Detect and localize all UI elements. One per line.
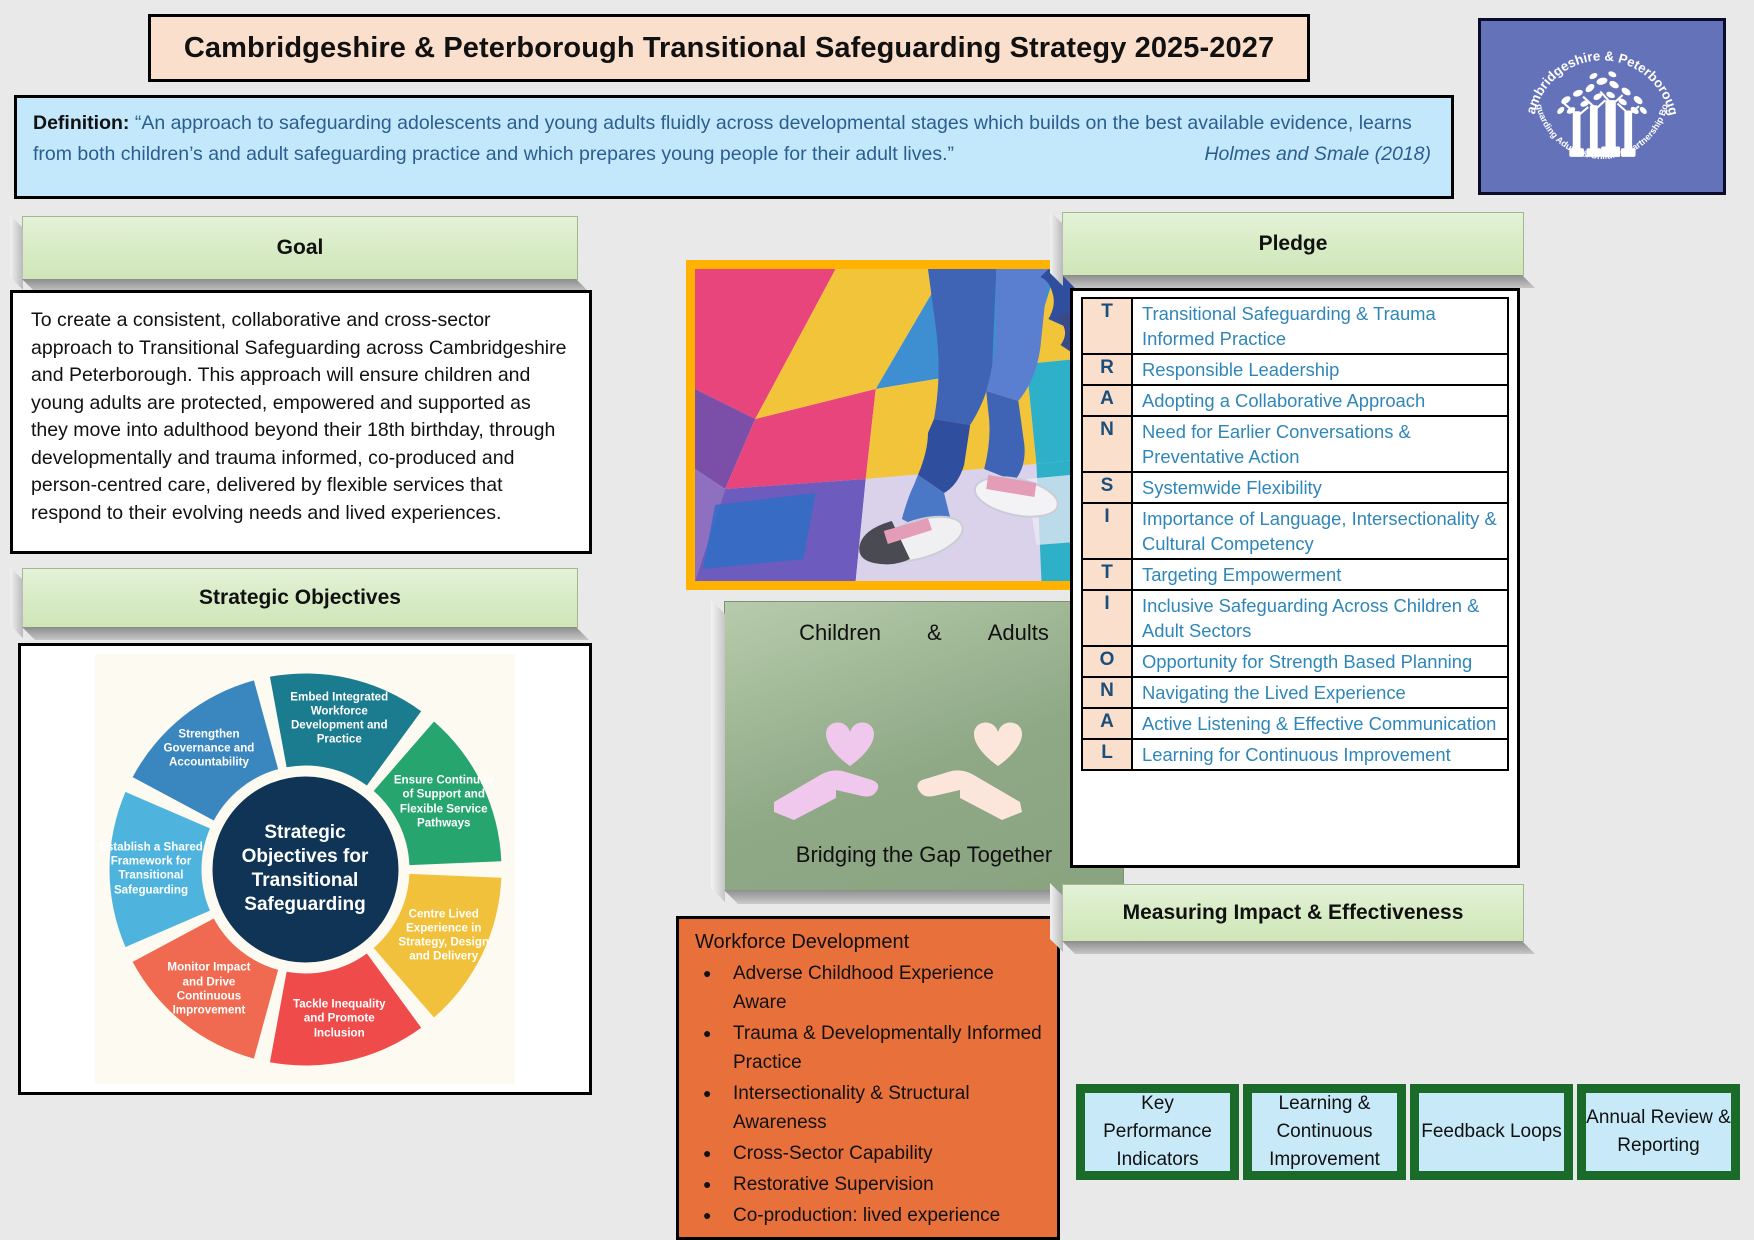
- pledge-row: NNeed for Earlier Conversations & Preven…: [1082, 416, 1508, 472]
- measuring-impact-header: Measuring Impact & Effectiveness: [1062, 884, 1524, 942]
- pledge-letter: O: [1082, 646, 1132, 677]
- pledge-text: Importance of Language, Intersectionalit…: [1132, 503, 1508, 559]
- bridging-children-label: Children: [799, 620, 881, 646]
- pledge-row: TTargeting Empowerment: [1082, 559, 1508, 590]
- bridging-adults-label: Adults: [988, 620, 1049, 646]
- pledge-text: Systemwide Flexibility: [1132, 472, 1508, 503]
- strategic-objectives-header: Strategic Objectives: [22, 568, 578, 628]
- bridging-panel: Children & Adults Bridging the Gap Toget…: [724, 601, 1124, 891]
- measure-box-annual-review[interactable]: Annual Review & Reporting: [1577, 1084, 1740, 1180]
- pledge-letter: R: [1082, 354, 1132, 385]
- pledge-header-label: Pledge: [1259, 232, 1328, 256]
- pledge-text: Responsible Leadership: [1132, 354, 1508, 385]
- workforce-title: Workforce Development: [695, 931, 1043, 954]
- pledge-row: TTransitional Safeguarding & Trauma Info…: [1082, 298, 1508, 354]
- definition-label: Definition:: [33, 112, 129, 134]
- pledge-panel: TTransitional Safeguarding & Trauma Info…: [1070, 288, 1520, 868]
- pledge-letter: N: [1082, 416, 1132, 472]
- pledge-letter: T: [1082, 559, 1132, 590]
- pledge-letter: L: [1082, 739, 1132, 770]
- strategic-objectives-header-label: Strategic Objectives: [199, 586, 401, 610]
- bridging-top-labels: Children & Adults: [725, 620, 1123, 646]
- definition-text: Definition: “An approach to safeguarding…: [33, 108, 1437, 170]
- strategic-objectives-panel: Strategic Objectives for Transitional Sa…: [18, 643, 592, 1095]
- strategic-objectives-wheel: Strategic Objectives for Transitional Sa…: [103, 667, 508, 1072]
- definition-panel: Definition: “An approach to safeguarding…: [14, 95, 1454, 199]
- pledge-row: OOpportunity for Strength Based Planning: [1082, 646, 1508, 677]
- goal-text: To create a consistent, collaborative an…: [31, 307, 571, 527]
- pledge-text: Inclusive Safeguarding Across Children &…: [1132, 590, 1508, 646]
- pledge-header: Pledge: [1062, 212, 1524, 276]
- pledge-row: IImportance of Language, Intersectionali…: [1082, 503, 1508, 559]
- goal-header: Goal: [22, 216, 578, 280]
- measure-box-feedback[interactable]: Feedback Loops: [1410, 1084, 1573, 1180]
- pledge-acronym-table: TTransitional Safeguarding & Trauma Info…: [1081, 297, 1509, 771]
- workforce-list: Adverse Childhood Experience AwareTrauma…: [695, 959, 1043, 1230]
- pledge-row: LLearning for Continuous Improvement: [1082, 739, 1508, 770]
- pledge-text: Active Listening & Effective Communicati…: [1132, 708, 1508, 739]
- definition-attribution: Holmes and Smale (2018): [1204, 139, 1431, 170]
- measure-box-kpi[interactable]: Key Performance Indicators: [1076, 1084, 1239, 1180]
- page-title: Cambridgeshire & Peterborough Transition…: [184, 32, 1274, 65]
- measure-box-feedback-label: Feedback Loops: [1421, 1118, 1562, 1146]
- workforce-list-item: Cross-Sector Capability: [695, 1139, 1043, 1168]
- pledge-text: Targeting Empowerment: [1132, 559, 1508, 590]
- measuring-impact-header-label: Measuring Impact & Effectiveness: [1123, 901, 1464, 925]
- pledge-letter: A: [1082, 385, 1132, 416]
- wheel-background: Strategic Objectives for Transitional Sa…: [95, 654, 515, 1084]
- pledge-text: Need for Earlier Conversations & Prevent…: [1132, 416, 1508, 472]
- workforce-list-item: Intersectionality & Structural Awareness: [695, 1079, 1043, 1137]
- page-title-banner: Cambridgeshire & Peterborough Transition…: [148, 14, 1310, 82]
- four-trees-icon: Cambridgeshire & Peterborough Safeguardi…: [1516, 21, 1688, 193]
- wheel-segment[interactable]: [109, 791, 209, 946]
- pledge-letter: N: [1082, 677, 1132, 708]
- two-hands-holding-hearts-icon: [764, 700, 1084, 820]
- workforce-list-item: Adverse Childhood Experience Aware: [695, 959, 1043, 1017]
- pledge-letter: S: [1082, 472, 1132, 503]
- goal-header-label: Goal: [277, 236, 324, 260]
- pledge-row: AActive Listening & Effective Communicat…: [1082, 708, 1508, 739]
- workforce-development-panel: Workforce Development Adverse Childhood …: [676, 916, 1060, 1240]
- measure-box-annual-review-label: Annual Review & Reporting: [1586, 1104, 1731, 1160]
- pledge-text: Transitional Safeguarding & Trauma Infor…: [1132, 298, 1508, 354]
- workforce-list-item: Restorative Supervision: [695, 1170, 1043, 1199]
- pledge-letter: A: [1082, 708, 1132, 739]
- pledge-text: Adopting a Collaborative Approach: [1132, 385, 1508, 416]
- pledge-row: IInclusive Safeguarding Across Children …: [1082, 590, 1508, 646]
- pledge-text: Navigating the Lived Experience: [1132, 677, 1508, 708]
- goal-panel: To create a consistent, collaborative an…: [10, 290, 592, 554]
- pledge-row: RResponsible Leadership: [1082, 354, 1508, 385]
- bridging-ampersand: &: [927, 620, 942, 646]
- bridging-caption: Bridging the Gap Together: [725, 842, 1123, 868]
- pledge-letter: I: [1082, 503, 1132, 559]
- pledge-row: AAdopting a Collaborative Approach: [1082, 385, 1508, 416]
- measure-box-learning-label: Learning & Continuous Improvement: [1252, 1090, 1397, 1174]
- pledge-text: Opportunity for Strength Based Planning: [1132, 646, 1508, 677]
- partnership-logo: Cambridgeshire & Peterborough Safeguardi…: [1478, 18, 1726, 195]
- measure-box-kpi-label: Key Performance Indicators: [1085, 1090, 1230, 1174]
- wheel-center-label: Strategic Objectives for Transitional Sa…: [221, 821, 389, 917]
- pledge-text: Learning for Continuous Improvement: [1132, 739, 1508, 770]
- workforce-list-item: Trauma & Developmentally Informed Practi…: [695, 1019, 1043, 1077]
- workforce-list-item: Co-production: lived experience: [695, 1201, 1043, 1230]
- pledge-row: NNavigating the Lived Experience: [1082, 677, 1508, 708]
- pledge-letter: T: [1082, 298, 1132, 354]
- pledge-row: SSystemwide Flexibility: [1082, 472, 1508, 503]
- measure-box-learning[interactable]: Learning & Continuous Improvement: [1243, 1084, 1406, 1180]
- svg-text:Cambridgeshire & Peterborough: Cambridgeshire & Peterborough: [1516, 21, 1681, 117]
